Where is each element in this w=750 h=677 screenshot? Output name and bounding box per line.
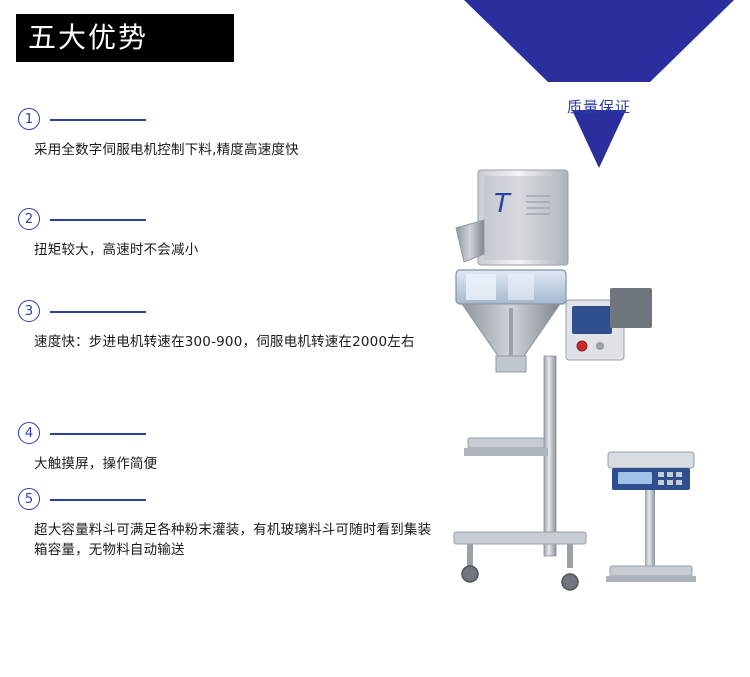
feature-text-5: 超大容量料斗可满足各种粉末灌装，有机玻璃料斗可随时看到集装箱容量，无物料自动输送	[34, 520, 434, 560]
weighing-scale	[606, 452, 696, 582]
touch-screen-panel	[566, 288, 652, 360]
quality-funnel-graphic: 质量保证	[454, 0, 744, 175]
illustration-column: 质量保证	[450, 0, 750, 677]
feature-rule-1	[50, 119, 146, 121]
machine-frame	[454, 356, 586, 590]
feature-number-4: 4	[18, 422, 40, 444]
funnel-label: 质量保证	[454, 96, 744, 117]
feature-rule-2	[50, 219, 146, 221]
brand-mark: T	[494, 189, 512, 219]
page-title-badge: 五大优势	[16, 14, 234, 62]
feature-rule-4	[50, 433, 146, 435]
machine-illustration: T	[450, 150, 750, 620]
control-cabinet: T	[478, 170, 568, 265]
funnel-icon	[454, 0, 744, 170]
page-title: 五大优势	[28, 24, 148, 52]
feature-text-1: 采用全数字伺服电机控制下料,精度高速度快	[34, 140, 434, 160]
feature-number-3: 3	[18, 300, 40, 322]
feature-text-3: 速度快：步进电机转速在300-900，伺服电机转速在2000左右	[34, 332, 434, 352]
feed-chute	[456, 220, 484, 262]
features-column: 五大优势 1 采用全数字伺服电机控制下料,精度高速度快 2 扭矩较大，高速时不会…	[0, 0, 450, 677]
feature-rule-5	[50, 499, 146, 501]
feature-number-2: 2	[18, 208, 40, 230]
feature-number-5: 5	[18, 488, 40, 510]
feature-rule-3	[50, 311, 146, 313]
feature-number-1: 1	[18, 108, 40, 130]
feature-text-4: 大触摸屏，操作简便	[34, 454, 434, 474]
feature-text-2: 扭矩较大，高速时不会减小	[34, 240, 434, 260]
